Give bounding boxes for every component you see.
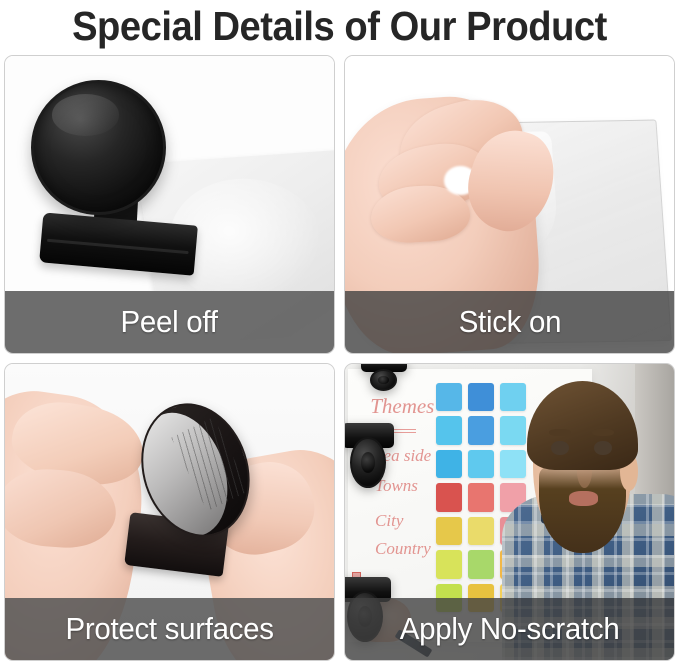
panel-protect-surfaces: Protect surfaces [4, 363, 335, 662]
caption-label: Peel off [121, 304, 218, 340]
eyebrow-right [592, 429, 614, 437]
eyebrow-left [549, 429, 571, 437]
sticky-note [436, 450, 462, 478]
eye-left [551, 441, 569, 456]
whiteboard-text-themes: Themes [370, 394, 434, 419]
panel-peel-off: Peel off [4, 55, 335, 354]
whiteboard-text-city: City [375, 511, 403, 531]
product-infographic: Special Details of Our Product Peel off [0, 0, 679, 664]
page-title: Special Details of Our Product [24, 0, 655, 52]
caption-band-peel-off: Peel off [5, 291, 334, 353]
sticky-note [436, 517, 462, 545]
sticky-note [436, 383, 462, 411]
mouth [569, 491, 599, 506]
panel-grid: Peel off Stick on [4, 55, 675, 661]
caption-band-protect-surfaces: Protect surfaces [5, 598, 334, 660]
caption-band-stick-on: Stick on [345, 291, 674, 353]
magnetic-clip-top [361, 364, 407, 397]
caption-label: Apply No-scratch [400, 611, 620, 647]
sticky-note [436, 550, 462, 578]
magnetic-clip-middle [345, 423, 394, 488]
caption-label: Protect surfaces [65, 611, 273, 647]
hair [527, 381, 638, 470]
sticky-note [436, 483, 462, 511]
whiteboard-text-country: Country [375, 539, 431, 559]
round-clip-disc [31, 80, 166, 215]
caption-label: Stick on [458, 304, 560, 340]
panel-stick-on: Stick on [344, 55, 675, 354]
sticky-note [436, 416, 462, 444]
panel-apply-no-scratch: Themes Sea side Towns City Country [344, 363, 675, 662]
caption-band-apply-no-scratch: Apply No-scratch [345, 598, 674, 660]
